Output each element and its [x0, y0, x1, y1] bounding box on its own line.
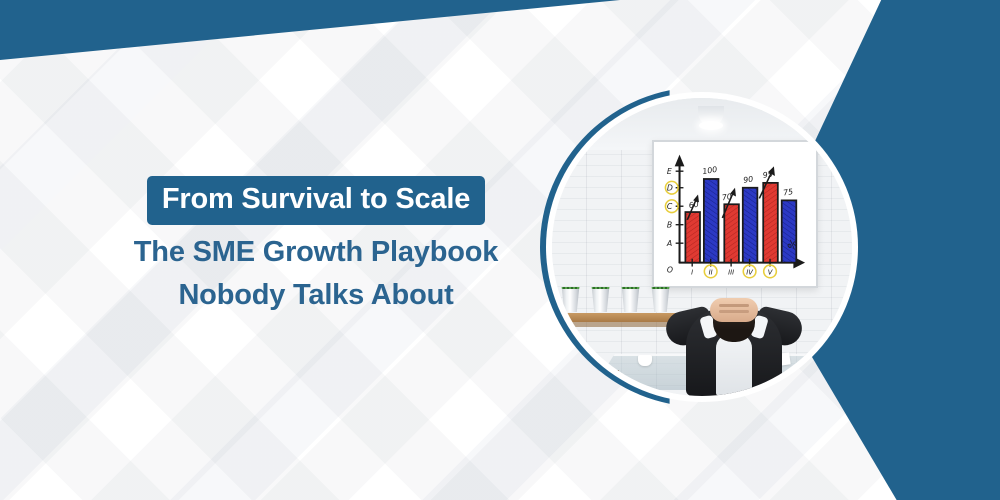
- svg-text:II: II: [709, 268, 713, 276]
- svg-text:75: 75: [783, 187, 794, 197]
- svg-text:100: 100: [702, 165, 718, 176]
- table-leg: [614, 370, 619, 396]
- hero-photo-container: A B C D E O: [552, 98, 852, 396]
- clasped-hands: [710, 298, 758, 322]
- decorative-shape-top-left: [0, 0, 620, 60]
- dress-shirt: [716, 334, 752, 396]
- svg-text:90: 90: [743, 174, 754, 184]
- svg-text:O: O: [667, 265, 673, 274]
- svg-text:A: A: [666, 239, 672, 248]
- coffee-cup-icon: [638, 355, 652, 366]
- businessman-figure: [668, 278, 800, 396]
- table-leg: [814, 370, 819, 396]
- svg-text:I: I: [691, 268, 693, 276]
- headline-block: From Survival to Scale The SME Growth Pl…: [116, 176, 516, 312]
- hero-photo: A B C D E O: [552, 98, 852, 396]
- headline-line-2: The SME Growth Playbook: [116, 236, 516, 269]
- headline-line-3: Nobody Talks About: [116, 279, 516, 312]
- promotional-banner: From Survival to Scale The SME Growth Pl…: [0, 0, 1000, 500]
- svg-text:V: V: [768, 268, 774, 276]
- svg-text:B: B: [667, 221, 672, 230]
- headline-highlight-line: From Survival to Scale: [147, 176, 485, 225]
- svg-text:C: C: [667, 202, 673, 211]
- svg-text:IV: IV: [746, 268, 754, 276]
- svg-text:E: E: [667, 167, 672, 176]
- whiteboard-chart: A B C D E O: [652, 140, 818, 288]
- ceiling-lamp-icon: [698, 106, 724, 126]
- svg-text:III: III: [728, 268, 734, 276]
- svg-text:D: D: [667, 184, 673, 193]
- hand-drawn-bar-chart: A B C D E O: [654, 142, 816, 286]
